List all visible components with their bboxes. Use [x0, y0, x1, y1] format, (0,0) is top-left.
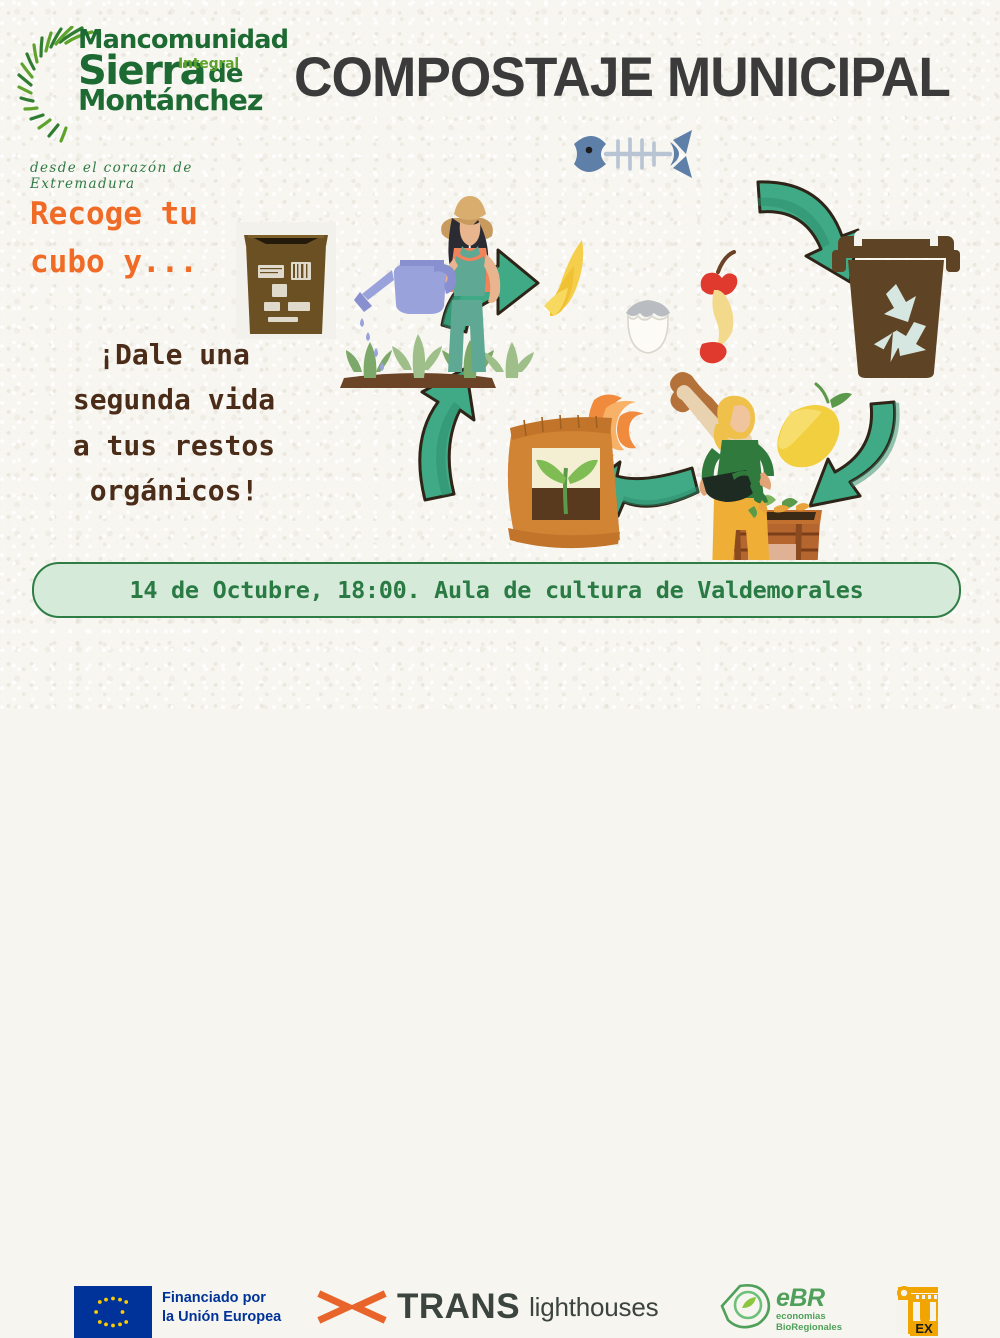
compost-bag-icon [508, 415, 620, 548]
apple-core-icon [700, 252, 738, 363]
chevrons-icon [316, 1287, 388, 1327]
ebr-subtitle-line-2: BioRegionales [776, 1322, 842, 1333]
fish-bone-icon [574, 130, 692, 178]
recoge-text-block: Recoge tu cubo y... [30, 190, 260, 286]
dale-text-block: ¡Dale una segunda vida a tus restos orgá… [14, 332, 334, 513]
eu-funding-line-2: la Unión Europea [162, 1308, 281, 1327]
trans-wordmark: TRANS [397, 1287, 520, 1327]
trans-sub-wordmark: lighthouses [529, 1292, 658, 1323]
recoge-line-2: cubo y... [30, 238, 260, 286]
footer-logos: Financiado por la Unión Europea TRANS li… [0, 636, 1000, 709]
logo-word-integral: Integral [178, 56, 239, 72]
lemon-icon [777, 384, 852, 467]
eu-funding-text: Financiado por la Unión Europea [162, 1289, 281, 1326]
eggshell-icon [626, 300, 670, 353]
compost-cycle-illustration [330, 110, 1000, 560]
ebr-subtitle-line-1: economias [776, 1311, 842, 1322]
dale-line-4: orgánicos! [14, 468, 334, 513]
poster-canvas: Mancomunidad Sierra de Montánchez Integr… [0, 0, 1000, 709]
svg-text:EX: EX [915, 1321, 933, 1336]
mancomunidad-logo: Mancomunidad Sierra de Montánchez Integr… [14, 24, 266, 164]
ebr-logo: eBR economias BioRegionales [718, 1280, 853, 1336]
uex-logo: EX [886, 1276, 948, 1338]
recoge-line-1: Recoge tu [30, 190, 260, 238]
waste-items-group [544, 130, 852, 467]
ebr-leaf-icon [718, 1280, 774, 1332]
event-banner: 14 de Octubre, 18:00. Aula de cultura de… [32, 562, 961, 618]
logo-tagline: desde el corazón de Extremadura [30, 160, 266, 192]
ebr-subtitle: economias BioRegionales [776, 1311, 842, 1333]
cubo-photo [236, 222, 336, 339]
eu-flag-icon [74, 1286, 152, 1338]
trans-lighthouses-logo: TRANS lighthouses [316, 1287, 658, 1327]
dale-line-3: a tus restos [14, 423, 334, 468]
ebr-wordmark: eBR [776, 1284, 825, 1313]
eu-funding-line-1: Financiado por [162, 1289, 281, 1308]
banana-peel-icon [544, 240, 583, 316]
brown-bin-icon [832, 230, 960, 378]
event-banner-text: 14 de Octubre, 18:00. Aula de cultura de… [130, 576, 864, 604]
logo-line-montanchez: Montánchez [78, 87, 266, 116]
logo-wordmark: Mancomunidad Sierra de Montánchez Integr… [78, 28, 266, 115]
page-title: COMPOSTAJE MUNICIPAL [290, 44, 955, 108]
dale-line-2: segunda vida [14, 377, 334, 422]
